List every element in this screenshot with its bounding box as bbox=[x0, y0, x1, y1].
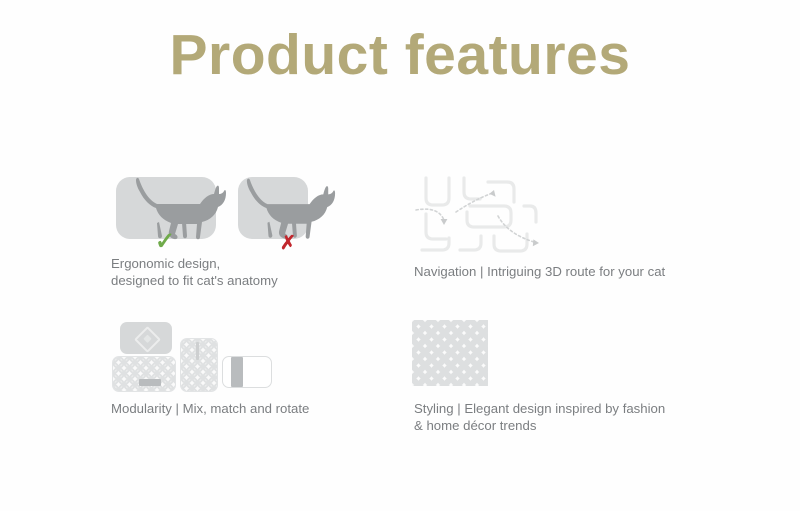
module-plain-panel bbox=[222, 356, 272, 388]
module-patterned-panel-wide bbox=[112, 356, 176, 392]
feature-navigation-label: Navigation | Intriguing 3D route for you… bbox=[414, 264, 665, 281]
cross-icon: ✗ bbox=[280, 234, 296, 253]
diamond-icon bbox=[134, 326, 161, 353]
cats-on-boxes-icon: ✓ ✗ bbox=[110, 172, 325, 252]
modular-panels-icon bbox=[110, 320, 270, 392]
module-vertical-bar bbox=[231, 357, 243, 387]
module-solid-panel bbox=[120, 322, 172, 354]
cat-silhouette-comfortable bbox=[130, 174, 230, 250]
feature-styling: Styling | Elegant design inspired by fas… bbox=[412, 320, 712, 392]
module-accent-pin bbox=[196, 342, 199, 360]
checkmark-icon: ✓ bbox=[155, 230, 175, 254]
slide-canvas: Product features ✓ bbox=[0, 0, 800, 511]
module-patterned-panel-tall bbox=[180, 338, 218, 392]
feature-ergonomic: ✓ ✗ Ergonomic design, designed to fit ca… bbox=[110, 172, 360, 252]
feature-styling-label: Styling | Elegant design inspired by fas… bbox=[414, 401, 665, 434]
pattern-swatch bbox=[412, 320, 488, 386]
feature-ergonomic-label: Ergonomic design, designed to fit cat's … bbox=[111, 256, 278, 289]
feature-navigation: Navigation | Intriguing 3D route for you… bbox=[412, 172, 712, 256]
feature-modularity-label: Modularity | Mix, match and rotate bbox=[111, 401, 309, 418]
quatrefoil-pattern-icon bbox=[412, 320, 502, 392]
feature-modularity: Modularity | Mix, match and rotate bbox=[110, 320, 370, 392]
maze-route-icon bbox=[412, 172, 542, 256]
page-title: Product features bbox=[0, 26, 800, 86]
module-accent-bar bbox=[139, 379, 161, 386]
